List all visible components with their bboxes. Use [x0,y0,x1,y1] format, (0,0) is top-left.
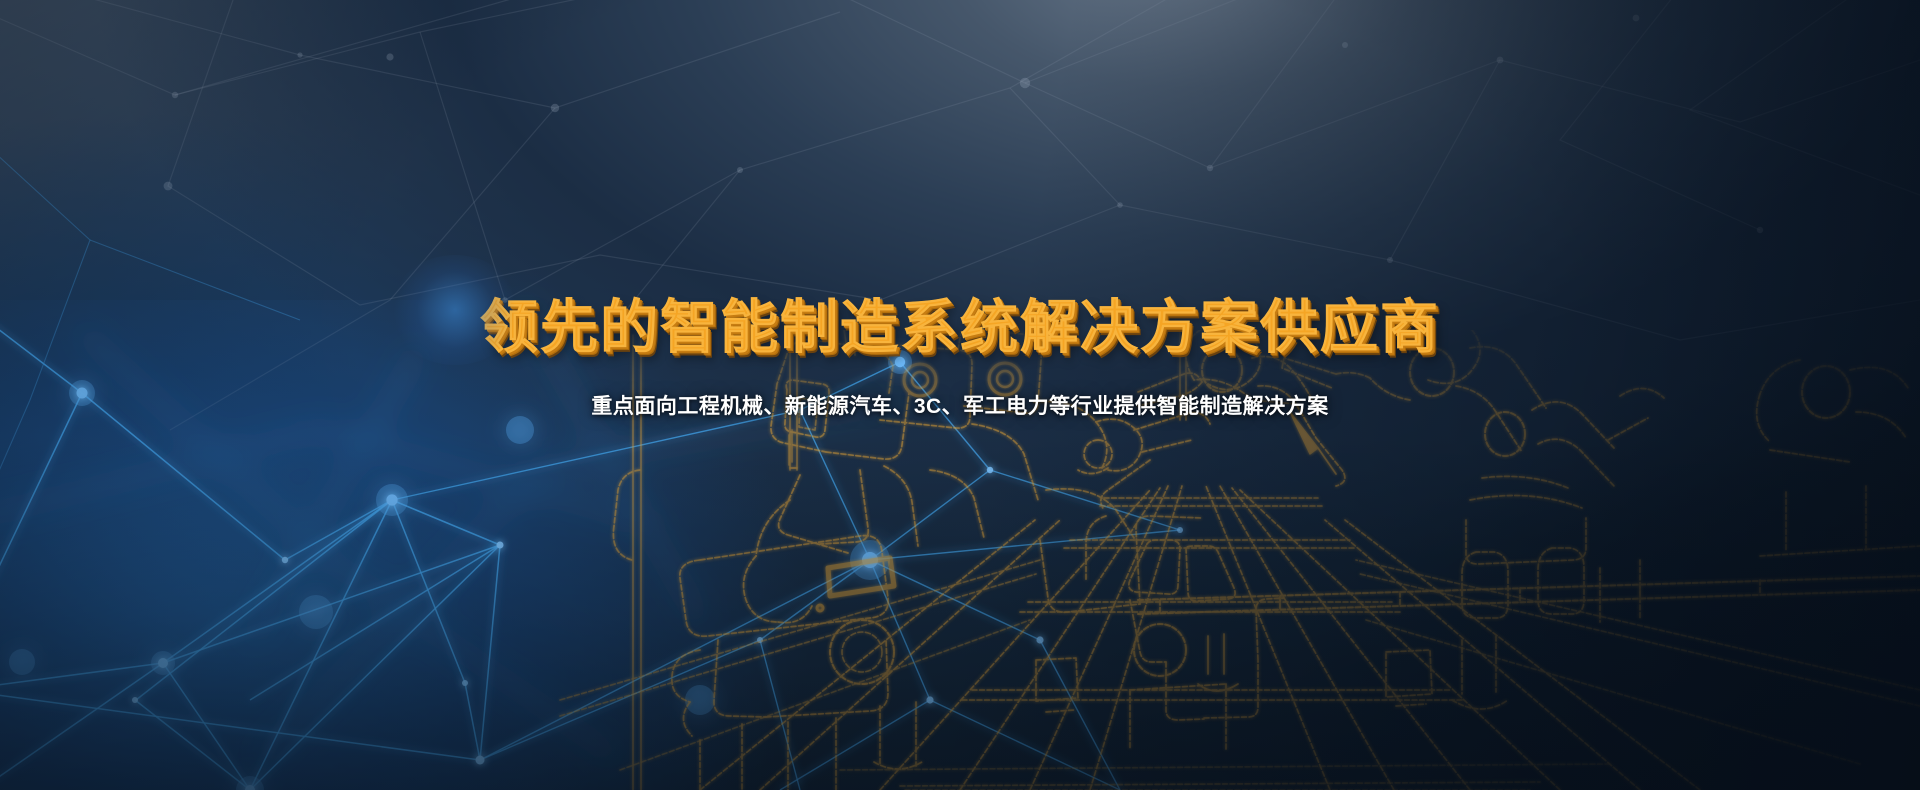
hero-banner: 领先的智能制造系统解决方案供应商 重点面向工程机械、新能源汽车、3C、军工电力等… [0,0,1920,790]
hero-headline: 领先的智能制造系统解决方案供应商 [0,297,1920,359]
hero-subheadline: 重点面向工程机械、新能源汽车、3C、军工电力等行业提供智能制造解决方案 [0,393,1920,421]
